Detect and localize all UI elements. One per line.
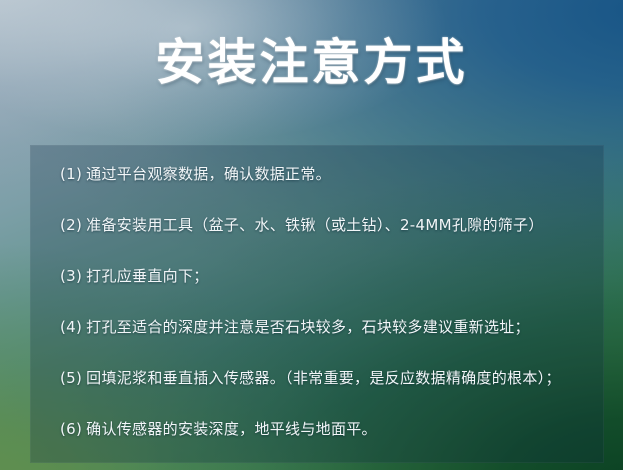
list-item-text: 打孔应垂直向下； (86, 267, 208, 285)
list-item-text: 回填泥浆和垂直插入传感器。（非常重要，是反应数据精确度的根本）； (86, 369, 561, 387)
list-item-text: 通过平台观察数据，确认数据正常。 (86, 165, 331, 183)
list-item-number: (3) (60, 267, 82, 285)
content-panel: (1)通过平台观察数据，确认数据正常。 (2)准备安装用工具（盆子、水、铁锹（或… (30, 145, 604, 463)
list-item-number: (4) (60, 318, 82, 336)
list-item-text: 确认传感器的安装深度，地平线与地面平。 (86, 420, 377, 438)
list-item: (1)通过平台观察数据，确认数据正常。 (60, 163, 594, 214)
list-item-text: 打孔至适合的深度并注意是否石块较多，石块较多建议重新选址； (86, 318, 530, 336)
list-item-number: (5) (60, 369, 82, 387)
list-item-text: 准备安装用工具（盆子、水、铁锹（或土钻）、2-4MM孔隙的筛子） (86, 216, 544, 234)
list-item: (4)打孔至适合的深度并注意是否石块较多，石块较多建议重新选址； (60, 316, 594, 367)
list-item: (5)回填泥浆和垂直插入传感器。（非常重要，是反应数据精确度的根本）； (60, 367, 594, 418)
list-item-number: (1) (60, 165, 82, 183)
list-item: (6)确认传感器的安装深度，地平线与地面平。 (60, 418, 594, 469)
list-item: (3)打孔应垂直向下； (60, 265, 594, 316)
presentation-slide: 安装注意方式 (1)通过平台观察数据，确认数据正常。 (2)准备安装用工具（盆子… (0, 0, 623, 470)
instruction-list: (1)通过平台观察数据，确认数据正常。 (2)准备安装用工具（盆子、水、铁锹（或… (60, 163, 594, 469)
list-item-number: (2) (60, 216, 82, 234)
list-item: (2)准备安装用工具（盆子、水、铁锹（或土钻）、2-4MM孔隙的筛子） (60, 214, 594, 265)
slide-title: 安装注意方式 (0, 32, 623, 94)
list-item-number: (6) (60, 420, 82, 438)
